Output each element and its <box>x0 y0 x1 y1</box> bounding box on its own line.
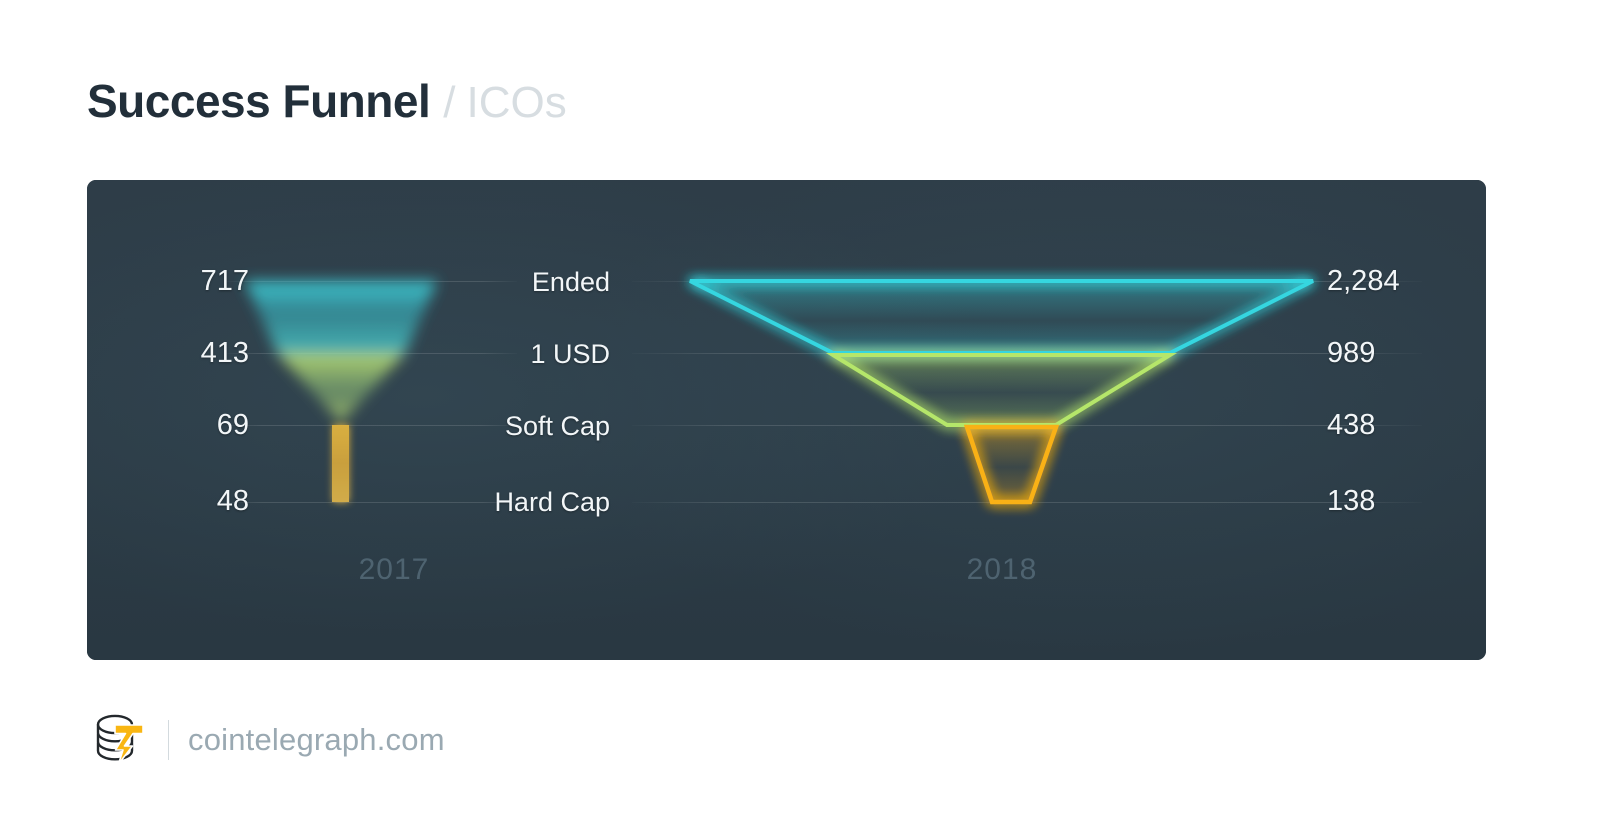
cointelegraph-logo-icon <box>88 706 150 773</box>
value-2017-hardcap: 48 <box>139 485 249 518</box>
year-label-2018: 2018 <box>912 553 1092 587</box>
value-2017-softcap: 69 <box>139 409 249 442</box>
value-2018-softcap: 438 <box>1327 409 1437 442</box>
gridline-right-1usd <box>632 353 1422 354</box>
stage-label-softcap: Soft Cap <box>372 411 610 442</box>
title-main-text: Success Funnel <box>87 74 430 128</box>
stage-label-hardcap: Hard Cap <box>372 487 610 518</box>
footer-divider <box>168 720 169 760</box>
title-subtitle-text: ICOs <box>466 78 566 128</box>
gridline-right-hardcap <box>632 502 1422 503</box>
stage-label-ended: Ended <box>372 267 610 298</box>
value-2017-ended: 717 <box>139 265 249 298</box>
chart-panel: 717 413 69 48 Ended 1 USD Soft Cap Hard … <box>87 180 1486 660</box>
title-separator: / <box>443 78 455 128</box>
panel-background-tint <box>87 180 1486 660</box>
value-2018-hardcap: 138 <box>1327 485 1437 518</box>
value-2017-1usd: 413 <box>139 337 249 370</box>
footer-site-text: cointelegraph.com <box>188 722 445 758</box>
year-label-2017: 2017 <box>304 553 484 587</box>
gridline-right-softcap <box>632 425 1422 426</box>
value-2018-ended: 2,284 <box>1327 265 1437 298</box>
stage-label-1usd: 1 USD <box>372 339 610 370</box>
gridline-right-ended <box>632 281 1422 282</box>
footer: cointelegraph.com <box>88 706 445 773</box>
page-title: Success Funnel / ICOs <box>87 74 567 128</box>
value-2018-1usd: 989 <box>1327 337 1437 370</box>
